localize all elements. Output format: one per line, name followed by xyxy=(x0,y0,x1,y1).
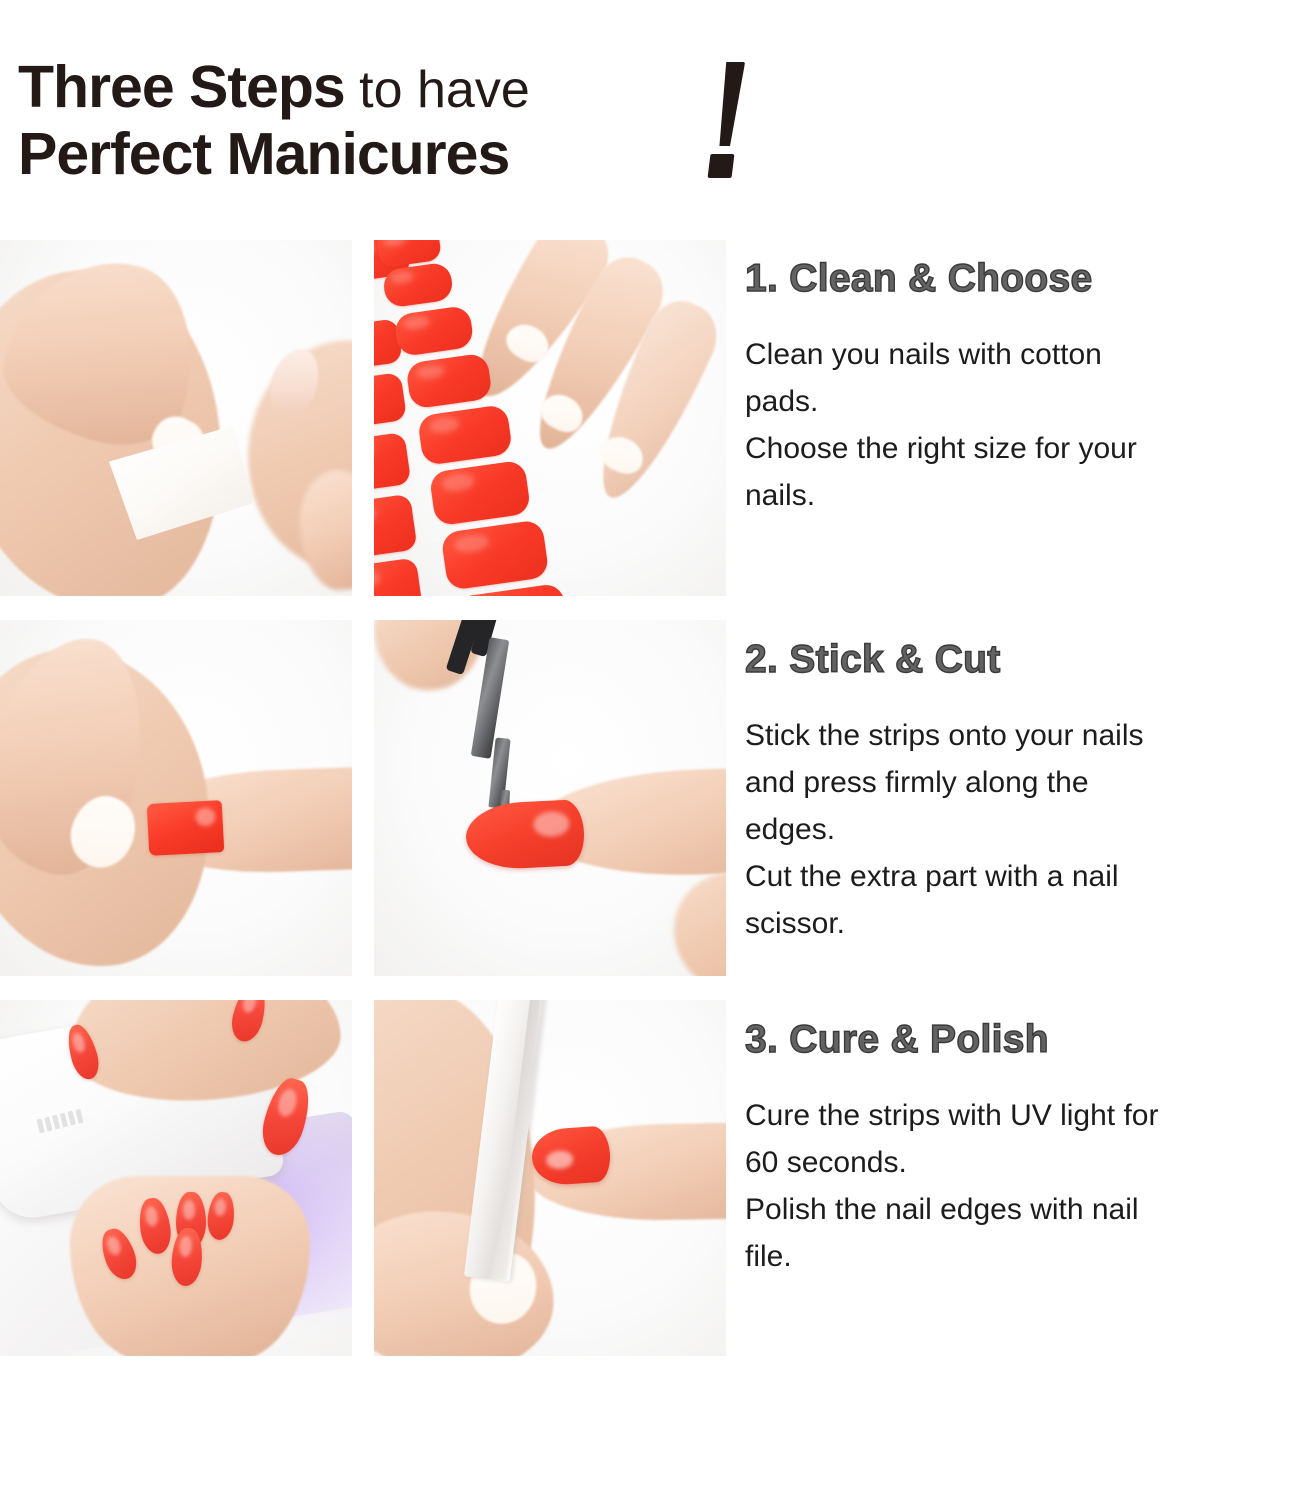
step-block-3: 3. Cure & Polish Cure the strips with UV… xyxy=(745,1018,1300,1280)
title-line-1: Three Steps to have xyxy=(18,55,818,122)
step-1-line-3: Choose the right size for your xyxy=(745,425,1300,472)
step-2-line-3: edges. xyxy=(745,806,1300,853)
step-3-line-1: Cure the strips with UV light for xyxy=(745,1092,1300,1139)
step-2-heading: 2. Stick & Cut xyxy=(745,638,1300,682)
step-2-line-5: scissor. xyxy=(745,900,1300,947)
step-1-heading: 1. Clean & Choose xyxy=(745,257,1300,301)
exclamation-dot xyxy=(708,154,735,178)
step-3-body: Cure the strips with UV light for 60 sec… xyxy=(745,1092,1300,1280)
step-block-2: 2. Stick & Cut Stick the strips onto you… xyxy=(745,638,1300,947)
title-strong-2: Perfect Manicures xyxy=(18,121,509,187)
title-light-1: to have xyxy=(345,61,530,119)
page-title: Three Steps to have Perfect Manicures xyxy=(18,55,818,205)
photo-nail-strip-sheet xyxy=(374,240,726,596)
title-line-2: Perfect Manicures xyxy=(18,122,818,187)
photo-cut-with-scissors xyxy=(374,620,726,976)
logo-bar xyxy=(75,1109,83,1124)
step-2-body: Stick the strips onto your nails and pre… xyxy=(745,712,1300,947)
step-3-line-2: 60 seconds. xyxy=(745,1139,1300,1186)
photo-polish-with-nail-file xyxy=(374,1000,726,1356)
step-1-body: Clean you nails with cotton pads. Choose… xyxy=(745,331,1300,519)
logo-bar xyxy=(52,1115,60,1130)
photo-uv-lamp-curing xyxy=(0,1000,352,1356)
photo-clean-with-cotton-pad xyxy=(0,240,352,596)
step-3-line-3: Polish the nail edges with nail xyxy=(745,1186,1300,1233)
red-nail-strip xyxy=(147,800,225,856)
logo-bar xyxy=(44,1117,52,1132)
step-1-line-4: nails. xyxy=(745,472,1300,519)
photo-grid xyxy=(0,240,728,1356)
step-block-1: 1. Clean & Choose Clean you nails with c… xyxy=(745,257,1300,519)
step-2-line-1: Stick the strips onto your nails xyxy=(745,712,1300,759)
exclamation-mark-icon xyxy=(700,62,760,187)
step-3-heading: 3. Cure & Polish xyxy=(745,1018,1300,1062)
step-1-line-1: Clean you nails with cotton xyxy=(745,331,1300,378)
step-2-line-2: and press firmly along the xyxy=(745,759,1300,806)
logo-bar xyxy=(68,1111,76,1126)
step-1-line-2: pads. xyxy=(745,378,1300,425)
logo-bar xyxy=(60,1113,68,1128)
step-2-line-4: Cut the extra part with a nail xyxy=(745,853,1300,900)
title-strong-1: Three Steps xyxy=(18,54,345,120)
step-3-line-4: file. xyxy=(745,1233,1300,1280)
photo-stick-strip-on-nail xyxy=(0,620,352,976)
exclamation-bar xyxy=(713,62,745,146)
